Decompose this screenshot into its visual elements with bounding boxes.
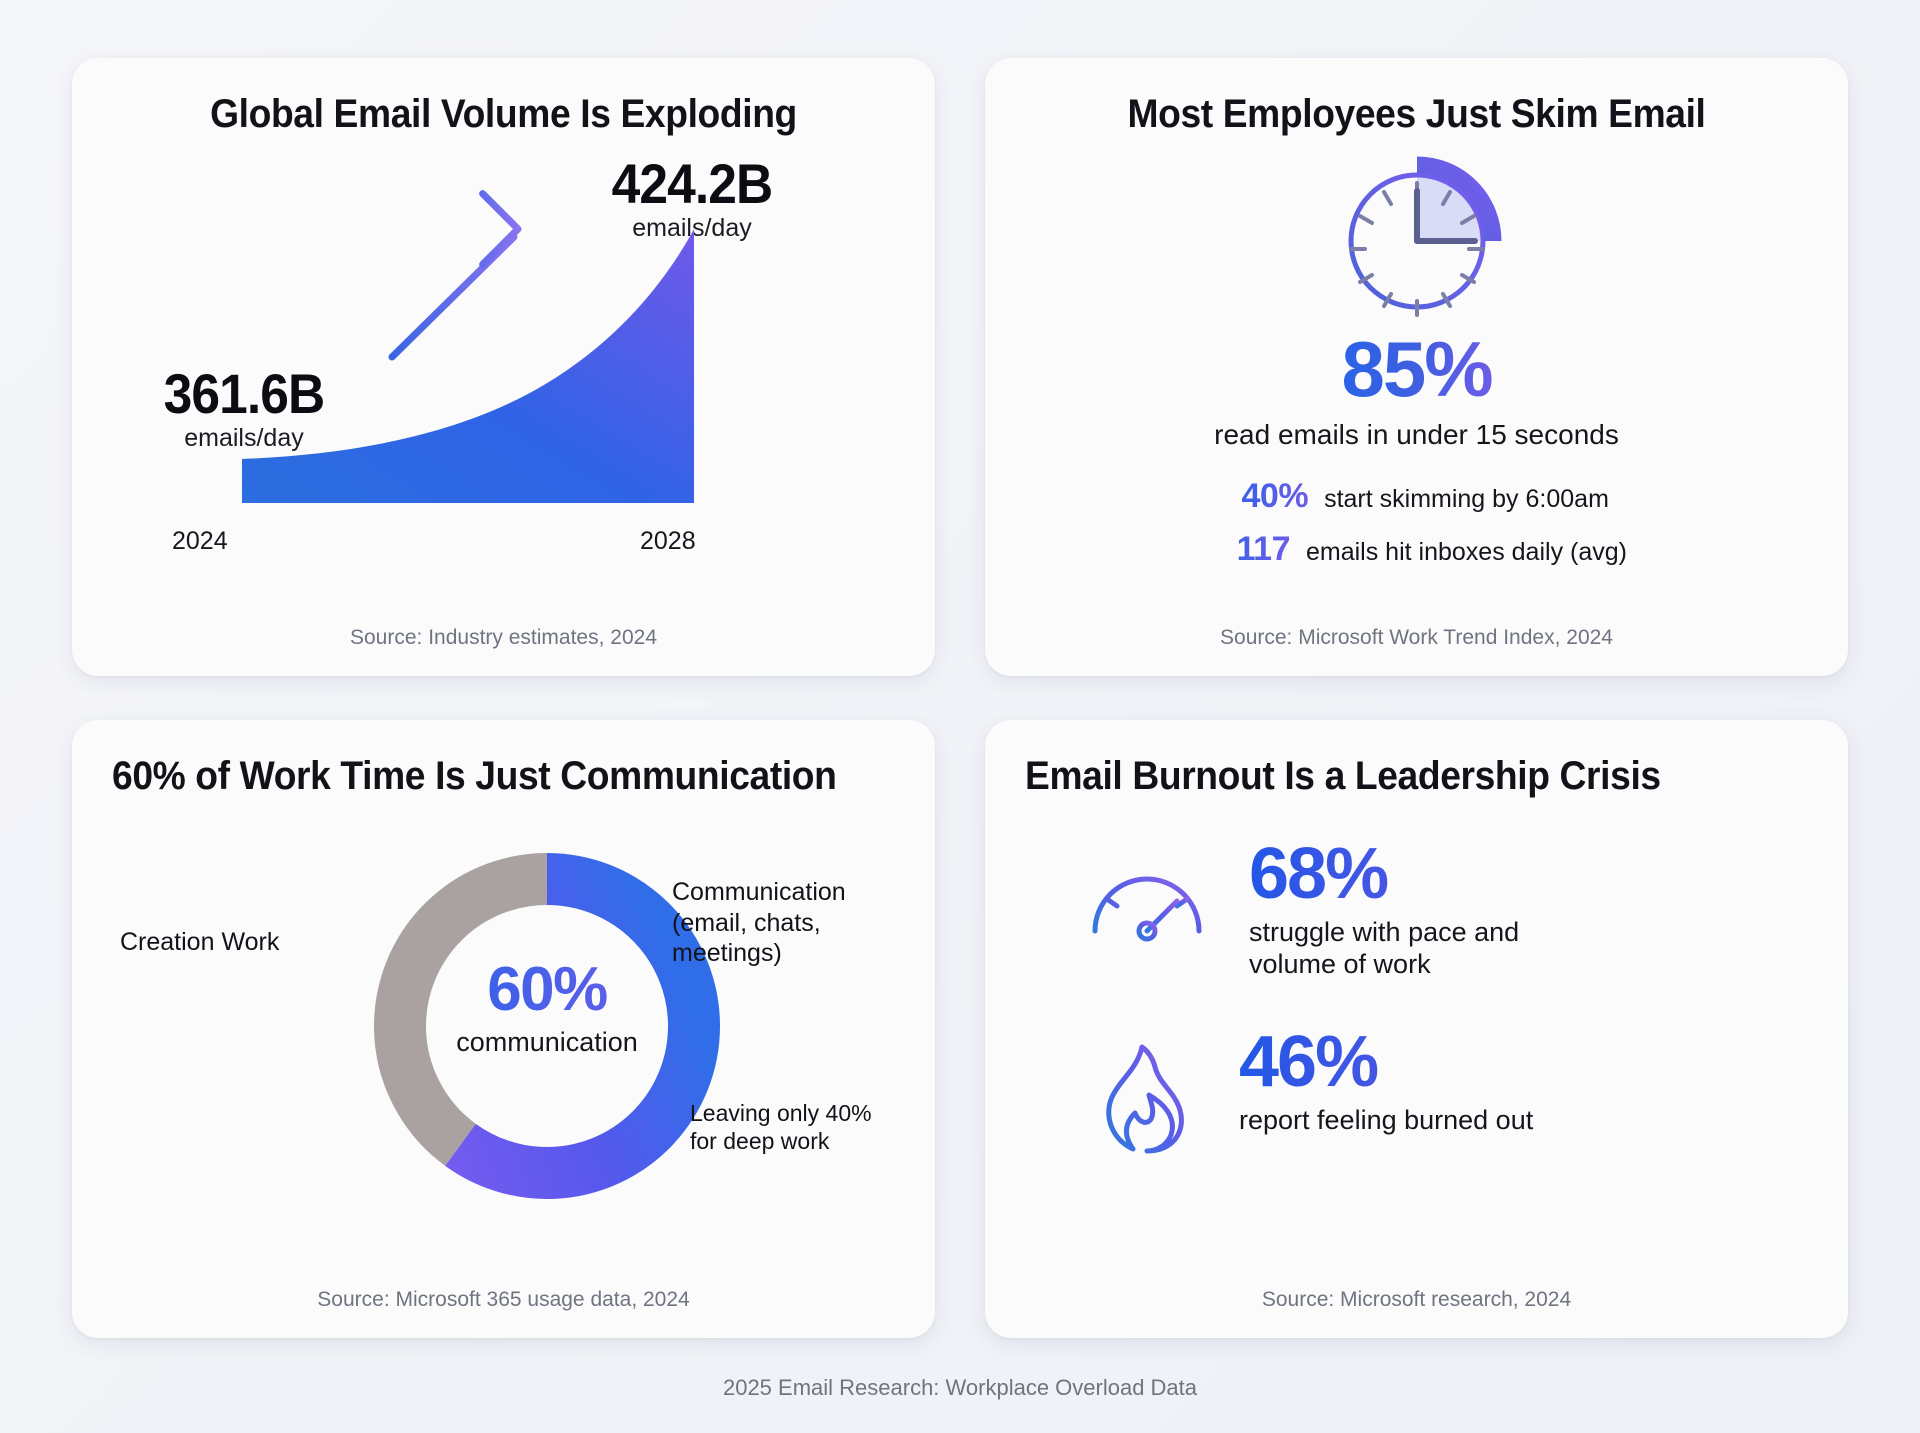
- source-skim-email: Source: Microsoft Work Trend Index, 2024: [1025, 626, 1808, 656]
- page-footer: 2025 Email Research: Workplace Overload …: [0, 1375, 1920, 1401]
- card-skim-email: Most Employees Just Skim Email: [985, 58, 1848, 676]
- stat-row: 40% start skimming by 6:00am: [1224, 477, 1609, 516]
- burnout-stat-text-wrap: 68% struggle with pace and volume of wor…: [1249, 839, 1519, 981]
- flame-icon-wrap: [1085, 1027, 1199, 1164]
- source-burnout: Source: Microsoft research, 2024: [1025, 1288, 1808, 1318]
- email-volume-chart: 424.2B emails/day 361.6B emails/day: [112, 137, 895, 626]
- card-title-work-time: 60% of Work Time Is Just Communication: [112, 754, 840, 799]
- donut-center-caption: communication: [422, 1027, 672, 1058]
- skim-email-body: 85% read emails in under 15 seconds 40% …: [1025, 137, 1808, 626]
- stat-row: 117 emails hit inboxes daily (avg): [1206, 530, 1627, 569]
- burnout-stat-row: 46% report feeling burned out: [1085, 1027, 1808, 1164]
- donut-label-communication-line2: (email, chats, meetings): [672, 908, 895, 969]
- axis-label-end: 2028: [640, 527, 696, 556]
- stat-text: start skimming by 6:00am: [1324, 485, 1609, 514]
- card-work-time: 60% of Work Time Is Just Communication: [72, 720, 935, 1338]
- donut-label-deep-work-line1: Leaving only 40%: [690, 1099, 872, 1127]
- source-work-time: Source: Microsoft 365 usage data, 2024: [112, 1288, 895, 1318]
- card-title-email-volume: Global Email Volume Is Exploding: [139, 92, 867, 137]
- infographic-page: Global Email Volume Is Exploding 424.2B …: [0, 0, 1920, 1433]
- donut-label-creation-work: Creation Work: [120, 927, 279, 958]
- burnout-stat-text-line2: volume of work: [1249, 948, 1519, 981]
- burnout-stat-text: report feeling burned out: [1239, 1104, 1533, 1137]
- work-time-donut-chart: 60% communication Creation Work Communic…: [112, 799, 895, 1288]
- skim-headline-caption: read emails in under 15 seconds: [1214, 419, 1619, 451]
- skim-headline-pct: 85%: [1341, 329, 1491, 411]
- stat-value: 40%: [1224, 477, 1308, 516]
- stat-value: 117: [1206, 530, 1290, 569]
- burnout-stat-text-wrap: 46% report feeling burned out: [1239, 1027, 1533, 1136]
- burnout-stat-value: 68%: [1249, 839, 1519, 910]
- gauge-icon-wrap: [1085, 839, 1209, 952]
- donut-label-communication-line1: Communication: [672, 877, 895, 908]
- donut-label-deep-work-line2: for deep work: [690, 1127, 872, 1155]
- card-title-burnout: Email Burnout Is a Leadership Crisis: [1025, 754, 1753, 799]
- skim-stat-list: 40% start skimming by 6:00am 117 emails …: [1025, 477, 1808, 569]
- burnout-stat-text-line1: struggle with pace and: [1249, 916, 1519, 949]
- source-email-volume: Source: Industry estimates, 2024: [112, 626, 895, 656]
- donut-center-label: 60% communication: [422, 959, 672, 1058]
- area-shape: [242, 229, 694, 503]
- donut-label-communication: Communication (email, chats, meetings): [672, 877, 895, 969]
- burnout-stat-value: 46%: [1239, 1027, 1533, 1098]
- card-burnout: Email Burnout Is a Leadership Crisis: [985, 720, 1848, 1338]
- donut-label-deep-work: Leaving only 40% for deep work: [690, 1099, 872, 1155]
- card-email-volume: Global Email Volume Is Exploding 424.2B …: [72, 58, 935, 676]
- card-title-skim-email: Most Employees Just Skim Email: [1052, 92, 1780, 137]
- flame-icon: [1085, 1039, 1199, 1159]
- clock-icon: [1329, 153, 1505, 329]
- area-curve-svg: [146, 167, 846, 567]
- burnout-stat-text: struggle with pace and volume of work: [1249, 916, 1519, 982]
- burnout-stat-row: 68% struggle with pace and volume of wor…: [1085, 839, 1808, 981]
- donut-center-value: 60%: [422, 959, 672, 1021]
- axis-label-start: 2024: [172, 527, 228, 556]
- card-grid: Global Email Volume Is Exploding 424.2B …: [72, 58, 1848, 1338]
- burnout-stat-text-line1: report feeling burned out: [1239, 1104, 1533, 1137]
- stat-text: emails hit inboxes daily (avg): [1306, 538, 1627, 567]
- trend-arrow-icon: [392, 194, 518, 357]
- burnout-body: 68% struggle with pace and volume of wor…: [1025, 799, 1808, 1288]
- gauge-icon: [1085, 851, 1209, 947]
